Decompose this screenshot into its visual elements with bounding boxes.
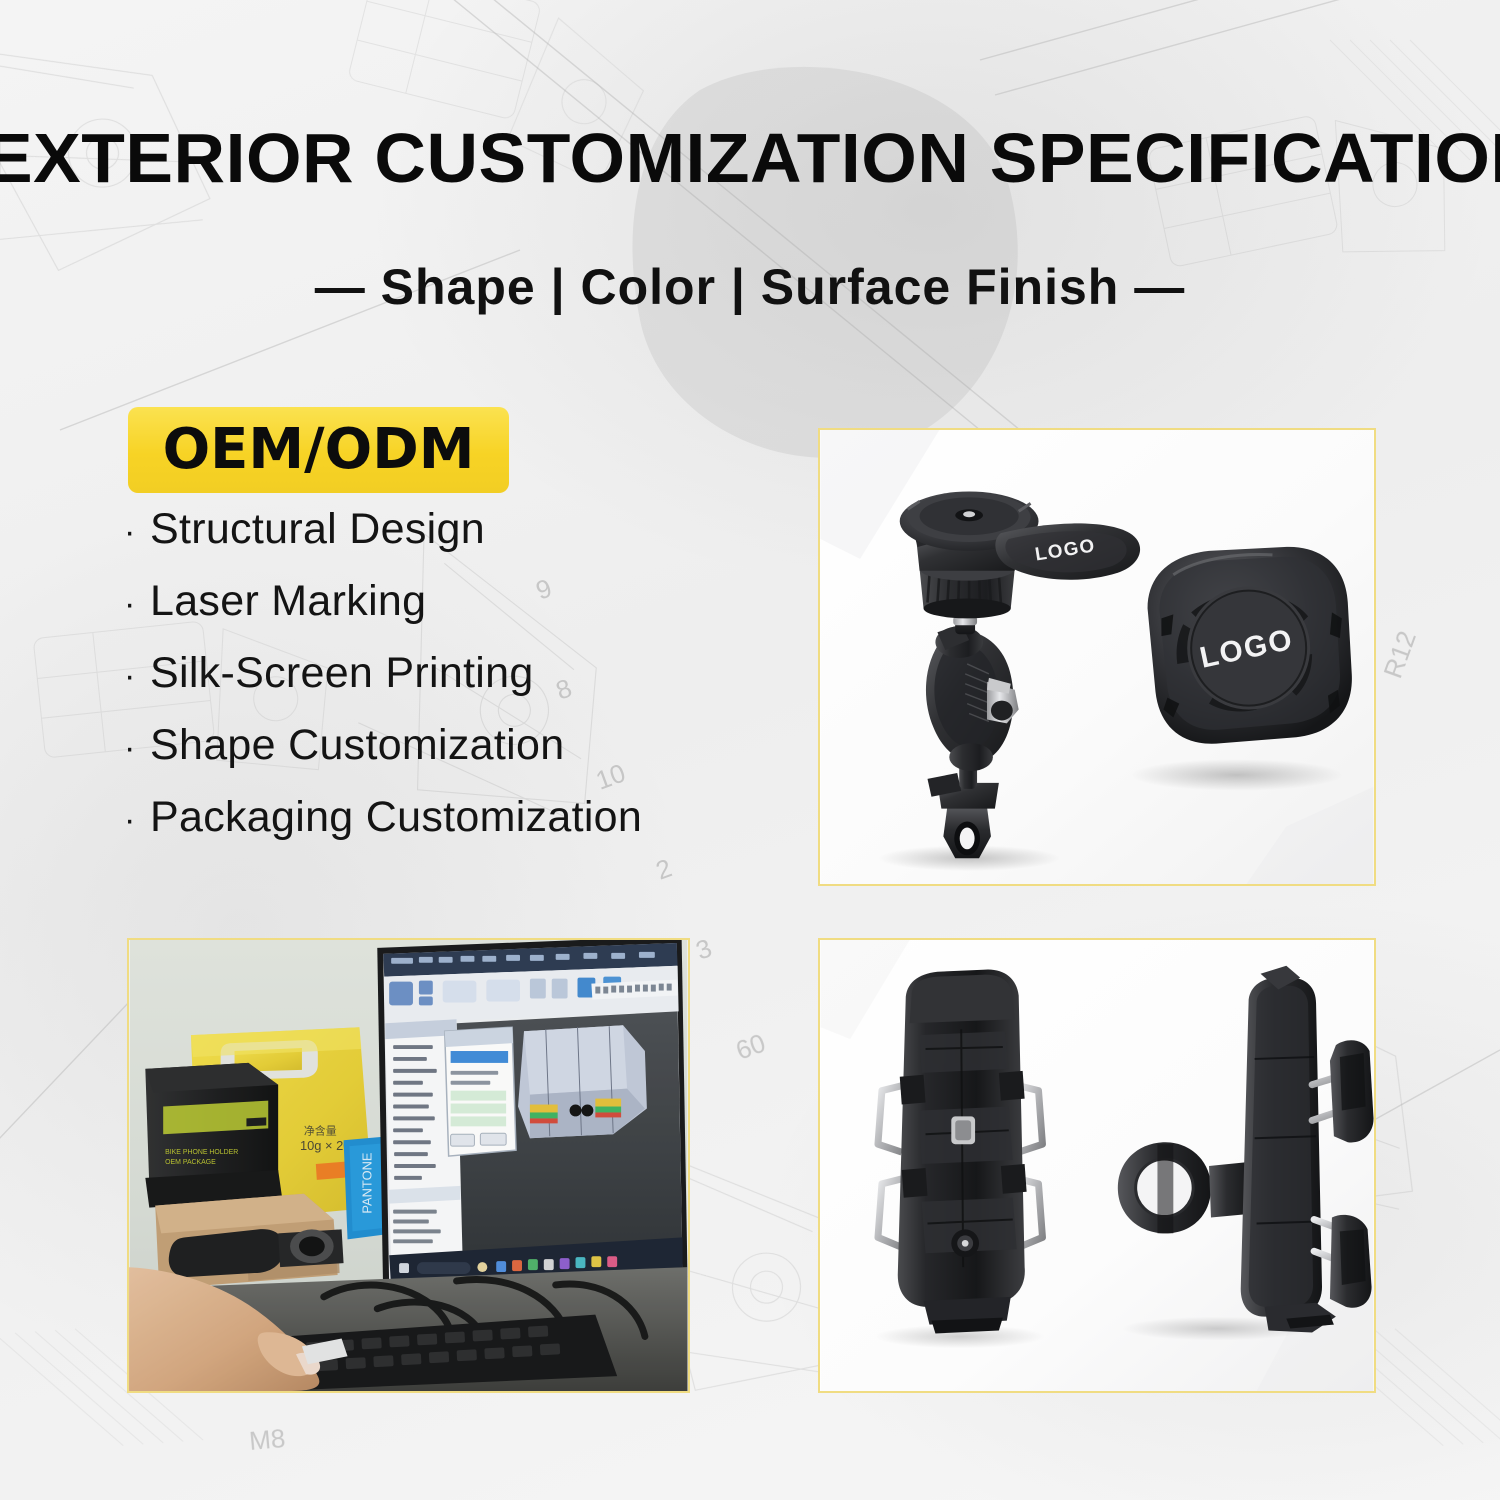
mount-plate: LOGO xyxy=(1148,547,1352,744)
list-item: · Structural Design xyxy=(124,505,844,577)
oem-odm-badge-label: OEM/ODM xyxy=(163,422,475,478)
holder-product-illustration xyxy=(820,940,1374,1391)
bullet-dot-icon: · xyxy=(124,731,150,765)
bullet-dot-icon: · xyxy=(124,587,150,621)
capability-label-silk-screen-printing: Silk-Screen Printing xyxy=(150,649,534,698)
bullet-dot-icon: · xyxy=(124,659,150,693)
page-subtitle: — Shape | Color | Surface Finish — xyxy=(0,258,1500,316)
capability-label-laser-marking: Laser Marking xyxy=(150,577,426,626)
svg-text:3: 3 xyxy=(692,932,716,965)
svg-text:M8: M8 xyxy=(248,1423,287,1456)
product-photo-panel-mount: LOGO LOGO xyxy=(818,428,1376,886)
svg-text:60: 60 xyxy=(732,1028,769,1066)
cad-workstation-photo-panel: 净含量 10g × 20 BIKE PHONE HOLDER OEM PACKA… xyxy=(127,938,690,1393)
oem-odm-badge: OEM/ODM xyxy=(128,407,509,493)
capabilities-list: · Structural Design · Laser Marking · Si… xyxy=(124,505,844,865)
cad-workstation-photo: 净含量 10g × 20 BIKE PHONE HOLDER OEM PACKA… xyxy=(129,940,688,1391)
list-item: · Laser Marking xyxy=(124,577,844,649)
page-title: EXTERIOR CUSTOMIZATION SPECIFICATION xyxy=(0,118,1500,198)
bullet-dot-icon: · xyxy=(124,515,150,549)
svg-text:R12: R12 xyxy=(1377,627,1422,682)
list-item: · Packaging Customization xyxy=(124,793,844,865)
list-item: · Shape Customization xyxy=(124,721,844,793)
capability-label-shape-customization: Shape Customization xyxy=(150,721,564,770)
product-photo-panel-holder xyxy=(818,938,1376,1393)
mount-product-illustration: LOGO LOGO xyxy=(820,430,1374,884)
list-item: · Silk-Screen Printing xyxy=(124,649,844,721)
bullet-dot-icon: · xyxy=(124,803,150,837)
capability-label-packaging-customization: Packaging Customization xyxy=(150,793,642,842)
capability-label-structural-design: Structural Design xyxy=(150,505,485,554)
